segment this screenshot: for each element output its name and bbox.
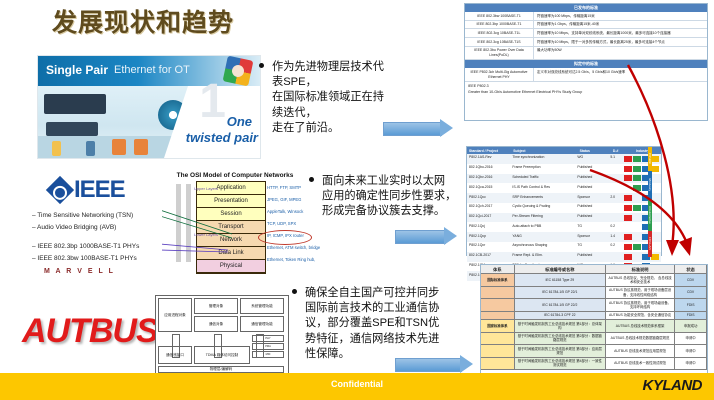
diagram-cell: 通信栈接口	[158, 346, 192, 364]
table-row: IEEE P802.3ch Multi-Gig Automotive Ether…	[465, 68, 707, 81]
diagram-side-label: PHY	[252, 335, 284, 342]
cell-standard: IEEE 802.3cg 10BASE-T1S	[465, 38, 534, 46]
diagram-side-label: MDI	[252, 351, 284, 358]
bullet-line: 形成完备协议簇去支撑。	[322, 204, 484, 219]
list-item: – Time Sensitive Networking (TSN)	[32, 210, 139, 222]
spe-illustration: 1 One twisted pair	[38, 86, 260, 158]
bullet-line: 作为先进物理层技术代表SPE，	[272, 60, 392, 90]
column-header: D-#	[607, 147, 624, 154]
industry-swatch	[633, 166, 641, 172]
table-section-title: 已发布的标准	[465, 4, 707, 12]
bullet-line: 面向未来工业实时以太网	[322, 174, 484, 189]
cell-code: 基于时间触发机制的工业总线技术规范 第1部分：总体架构	[515, 320, 606, 332]
cell-subject: Scheduled Traffic	[510, 174, 575, 184]
table-row: 基于时间触发机制的工业总线技术规范 第4部分：一致性测试规范AUTBUS 总线技…	[481, 358, 707, 371]
bullet-dot-icon	[259, 63, 264, 68]
industry-swatch	[624, 234, 632, 240]
column-header: 状态	[675, 265, 707, 273]
cell-subject: Frame Preemption	[510, 164, 575, 174]
cell-draft	[604, 252, 621, 262]
cell-description: 符链速率为1 Gbps，传输距离15米-40米	[534, 21, 707, 29]
cell-status: FDIS	[675, 312, 707, 319]
cell-code: IEC 61784-3 CPF 22	[515, 312, 606, 319]
industry-swatch	[633, 215, 641, 221]
table-body: P802.1AS-RevTime synchronizationWG5.1802…	[467, 154, 661, 281]
spe-banner-image: Single Pair Ethernet for OT 1 One twiste…	[37, 55, 261, 159]
cell-draft	[604, 203, 621, 213]
table-footnote-2: Greater than 10-Gb/s Automotive Ethernet…	[465, 88, 707, 97]
table-row: 802.1CB-2017Frame Repl. & Elim.Published	[467, 252, 661, 262]
cell-description: AUTBUS 总线技术规范数据链路层规范	[606, 333, 675, 345]
bullet-line: 势特征，通信网络技术先进	[305, 332, 465, 347]
table-row: 基于时间触发机制的工业总线技术规范 第2部分：数据链路层规范AUTBUS 总线技…	[481, 333, 707, 346]
cell-description: AUTBUS 总线技术规范体系框架	[606, 320, 675, 332]
cell-status: TG	[575, 242, 604, 252]
tab-public: P/Public	[648, 147, 652, 171]
cell-description: AUTBUS 总线技术一致性测试规范	[606, 358, 675, 370]
cell-status: Published	[575, 203, 604, 213]
table-row: P802.1AS-RevTime synchronizationWG5.1	[467, 154, 661, 164]
industry-swatch	[624, 215, 632, 221]
cell-status: CDV	[675, 287, 707, 299]
cell-draft	[604, 174, 621, 184]
cell-group	[481, 358, 515, 370]
industry-swatch	[624, 195, 632, 201]
diagram-cell: 物理层/编解码	[158, 366, 284, 373]
table-row: IEEE 802.3bu Power Over Data Lines(PoDL)…	[465, 47, 707, 60]
page-title: 发展现状和趋势	[52, 3, 234, 39]
cell-status: Sponsor	[575, 232, 604, 242]
diagram-side-label: PMA	[252, 343, 284, 350]
industry-swatch	[633, 254, 641, 260]
industry-swatch	[633, 205, 641, 211]
industry-swatch	[624, 224, 632, 230]
cell-subject: Frame Repl. & Elim.	[510, 252, 575, 262]
industry-swatch	[624, 254, 632, 260]
cell-description: 符链速率为10 Mbps，限于一对多的传输方式，最长距离25米，最多可连接4个节…	[534, 38, 707, 46]
table-header-row: 体系 标准编号或名称 标准说明 状态	[481, 265, 707, 274]
cell-subject: SRP Enhancements	[510, 193, 575, 203]
control-desk-shape	[44, 94, 106, 114]
table-row: IEC 61784-3 CPF 22AUTBUS 功能安全规范，含安全通信协议F…	[481, 312, 707, 320]
cell-status: 申报成功	[675, 320, 707, 332]
cell-description: AUTBUS 协议族规范，用于现场设备层设备，支持线性网络结构	[606, 287, 675, 299]
cell-group: 国际标准体系	[481, 274, 515, 286]
cell-draft	[604, 164, 621, 174]
cell-group	[481, 345, 515, 357]
cell-status: Published	[575, 183, 604, 193]
bullet-tsn: 面向未来工业实时以太网 应用的确定性同步性要求， 形成完备协议簇去支撑。	[322, 174, 484, 220]
industry-swatch	[633, 175, 641, 181]
industry-swatch	[633, 224, 641, 230]
spe-caption-one: One	[227, 114, 252, 129]
diagram-cell: 应用进程对象	[158, 298, 192, 332]
bullet-dot-icon	[309, 177, 314, 182]
industry-swatch	[624, 156, 632, 162]
cell-draft: 0.2	[604, 242, 621, 252]
table-row: P802.1QcpYANGSponsor1.4	[467, 232, 661, 242]
table-body: 国际标准体系IEC 61158 Type 29AUTBUS 总线协议、完全规范，…	[481, 274, 707, 370]
cell-draft: 0.2	[604, 222, 621, 232]
blue-arrow-3	[395, 355, 473, 373]
cell-code: 基于时间触发机制的工业总线技术规范 第2部分：数据链路层规范	[515, 333, 606, 345]
column-header: 标准说明	[606, 265, 675, 273]
cell-standard: IEEE 802.3bw 100BASE-T1	[465, 12, 534, 20]
cell-group	[481, 287, 515, 299]
table-tsn-projects: Standard / Project Subject Status D-# In…	[466, 146, 662, 256]
cell-standard: P802.1Qcr	[467, 242, 510, 252]
cell-subject: IS-IS Path Control & Res	[510, 183, 575, 193]
table-row: IEEE 802.3cg 10BASE-T1S 符链速率为10 Mbps，限于一…	[465, 38, 707, 47]
spe-banner-header: Single Pair Ethernet for OT	[38, 56, 260, 86]
table-header-row: Standard / Project Subject Status D-# In…	[467, 147, 661, 154]
cell-subject: YANG	[510, 232, 575, 242]
list-item: – IEEE 802.3bp 1000BASE-T1 PHYs	[32, 241, 139, 253]
diagram-cell: TDMA 媒体访问控制	[194, 346, 250, 364]
blue-arrow-1	[383, 119, 453, 137]
cell-standard: 802.1CB-2017	[467, 252, 510, 262]
cell-description: 符链速率为100 Mbps，传输距离15米	[534, 12, 707, 20]
left-standards-list: – Time Sensitive Networking (TSN) – Audi…	[32, 210, 139, 265]
cell-group: 国家标准体系	[481, 320, 515, 332]
cell-standard: P802.1AS-Rev	[467, 154, 510, 164]
industry-swatch	[633, 234, 641, 240]
cell-status: 申请中	[675, 345, 707, 357]
worker-2-shape	[86, 141, 95, 156]
cell-code: 基于时间触发机制的工业总线技术规范 第3部分：应用层规范	[515, 345, 606, 357]
table-row: IEC 61784-1/5 GP 22/2AUTBUS 协议族规范，用于现场级设…	[481, 299, 707, 312]
cell-status: 申请中	[675, 358, 707, 370]
bullet-line: 在国际标准领域正在持续迭代，	[272, 90, 392, 120]
table-row: IEEE 802.3bw 100BASE-T1 符链速率为100 Mbps，传输…	[465, 12, 707, 21]
column-header: Status	[578, 147, 608, 154]
table-row: 802.1Qch-2017Cyclic Queuing & FwdingPubl…	[467, 203, 661, 213]
tab-automotive: A/Automotive	[648, 199, 652, 231]
industry-swatch	[633, 156, 641, 162]
cell-group	[481, 333, 515, 345]
diagram-cell: 系统管理功能	[240, 298, 284, 314]
table-row: 802.1Qbu-2016Frame PreemptionPublished	[467, 164, 661, 174]
cell-status: WG	[575, 154, 604, 164]
table-row: 802.1Qbv-2016Scheduled TrafficPublished	[467, 174, 661, 184]
table-row: P802.1QcjAuto-attach to PBBTG0.2	[467, 222, 661, 232]
bullet-line: 确保全自主国产可控并同步	[305, 286, 465, 301]
robot-arm-2-shape	[134, 139, 148, 155]
cell-standard: IEEE P802.3ch Multi-Gig Automotive Ether…	[465, 68, 534, 80]
cell-draft: 2.0	[604, 193, 621, 203]
cell-draft	[604, 183, 621, 193]
industry-swatch	[633, 244, 641, 250]
cell-status: Sponsor	[575, 193, 604, 203]
industry-swatch	[633, 185, 641, 191]
cell-status: Published	[575, 174, 604, 184]
cell-standard: P802.1Qcp	[467, 232, 510, 242]
marvell-logo-label: M A R V E L L	[44, 268, 115, 275]
cell-code: IEC 61784-1/5 GP 22/1	[515, 287, 606, 299]
cell-description: AUTBUS 总线技术规范应用层规范	[606, 345, 675, 357]
industry-swatch	[624, 185, 632, 191]
list-item: – IEEE 802.3bw 100BASE-T1 PHYs	[32, 253, 139, 265]
table-row: 802.1Qca-2015IS-IS Path Control & ResPub…	[467, 183, 661, 193]
cell-standard: 802.1Qbv-2016	[467, 174, 510, 184]
bullet-line: 国际前言技术的工业通信协	[305, 301, 465, 316]
bullet-line: 应用的确定性同步性要求，	[322, 189, 484, 204]
table-row: IEEE 802.3cg 10BASE-T1L 符链速率为10 Mbps，支持单…	[465, 29, 707, 38]
footer-bar: Confidential KYLAND	[0, 373, 714, 400]
cell-description: AUTBUS 功能安全规范，含安全通信协议	[606, 312, 675, 319]
table-published-standards: 已发布的标准 IEEE 802.3bw 100BASE-T1 符链速率为100 …	[464, 3, 708, 121]
industry-swatch	[633, 195, 641, 201]
cell-description: 定义车对双绞线系统可达2.5 Gb/s、5 Gb/s和10 Gb/s速率	[534, 68, 707, 80]
table-row: IEC 61784-1/5 GP 22/1AUTBUS 协议族规范，用于现场设备…	[481, 287, 707, 300]
cell-draft	[604, 213, 621, 223]
control-desk-2-shape	[46, 122, 98, 136]
table-row: P802.1QccSRP EnhancementsSponsor2.0	[467, 193, 661, 203]
cell-standard: P802.1Qcc	[467, 193, 510, 203]
cell-standard: 802.1Qch-2017	[467, 203, 510, 213]
cell-status: TG	[575, 222, 604, 232]
slide-canvas: 发展现状和趋势 Single Pair Ethernet for OT 1 On…	[0, 0, 714, 400]
cell-group	[481, 312, 515, 319]
cell-status: FDIS	[675, 299, 707, 311]
cell-subject: Cyclic Queuing & Fwding	[510, 203, 575, 213]
table-section-title: 拟定中的标准	[465, 60, 707, 68]
cell-status: Published	[575, 213, 604, 223]
ieee-diamond-icon	[46, 176, 74, 204]
column-header: Standard / Project	[467, 147, 511, 154]
cell-status: 申请中	[675, 333, 707, 345]
worker-1-shape	[52, 141, 61, 156]
table-row: 基于时间触发机制的工业总线技术规范 第3部分：应用层规范AUTBUS 总线技术规…	[481, 345, 707, 358]
cell-description: 符链速率为10 Mbps，支持单对双绞线系统，最长距离1000米，最多可连接10…	[534, 29, 707, 37]
confidential-label: Confidential	[0, 379, 714, 389]
cell-subject: Asynchronous Shaping	[510, 242, 575, 252]
ieee-logo-label: IEEE	[74, 176, 125, 204]
osi-connector-lines	[162, 172, 308, 276]
kyland-logo: KYLAND	[643, 377, 703, 394]
table-row: 国际标准体系IEC 61158 Type 29AUTBUS 总线协议、完全规范，…	[481, 274, 707, 287]
bullet-autbus: 确保全自主国产可控并同步 国际前言技术的工业通信协 议，部分覆盖SPE和TSN优…	[305, 286, 465, 362]
industry-vertical-tabs: P/Public II/Industry A/Automotive F/Pro-…	[648, 147, 661, 257]
list-item: – Audio Video Bridging (AVB)	[32, 222, 139, 234]
cell-draft: 5.1	[604, 154, 621, 164]
diagram-cell: 管理对象	[194, 298, 238, 314]
cell-standard: 802.1Qbu-2016	[467, 164, 510, 174]
bullet-dot-icon	[292, 289, 297, 294]
cell-standard: IEEE 802.3bu Power Over Data Lines(PoDL)	[465, 47, 534, 59]
table-row: P802.1QcrAsynchronous ShapingTG0.2	[467, 242, 661, 252]
cell-description: 最大功率为50W	[534, 47, 707, 59]
table-row: 国家标准体系基于时间触发机制的工业总线技术规范 第1部分：总体架构AUTBUS …	[481, 320, 707, 333]
cell-status: Published	[575, 252, 604, 262]
robot-arm-1-shape	[112, 139, 126, 155]
column-header: 体系	[481, 265, 515, 273]
ieee-logo: IEEE	[50, 176, 125, 204]
tab-industry: II/Industry	[648, 171, 652, 199]
industry-swatch	[624, 175, 632, 181]
cell-status: Published	[575, 164, 604, 174]
diagram-cell: 通信管理功能	[240, 316, 284, 332]
spe-big-number: 1	[199, 78, 226, 126]
cell-draft: 1.4	[604, 232, 621, 242]
spe-diamond-logo-icon	[223, 56, 254, 87]
osi-model-diagram: The OSI Model of Computer Networks Appli…	[162, 172, 308, 276]
table-row: IEEE 802.3bp 1000BASE-T1 符链速率为1 Gbps，传输距…	[465, 21, 707, 30]
column-header: Subject	[511, 147, 577, 154]
bullet-line: 议，部分覆盖SPE和TSN优	[305, 316, 465, 331]
cell-standard: IEEE 802.3cg 10BASE-T1L	[465, 29, 534, 37]
industry-swatch	[624, 205, 632, 211]
bullet-line: 走在了前沿。	[272, 121, 392, 136]
diagram-cell: 通信对象	[194, 316, 238, 332]
cell-subject: Time synchronization	[510, 154, 575, 164]
bullet-spe: 作为先进物理层技术代表SPE， 在国际标准领域正在持续迭代， 走在了前沿。	[272, 60, 392, 136]
cell-standard: IEEE 802.3bp 1000BASE-T1	[465, 21, 534, 29]
industry-swatch	[624, 166, 632, 172]
cell-description: AUTBUS 协议族规范，用于现场级设备，支持环网结构	[606, 299, 675, 311]
cell-standard: P802.1Qcj	[467, 222, 510, 232]
spe-caption-twisted-pair: twisted pair	[186, 130, 258, 145]
cell-subject: Auto-attach to PBB	[510, 222, 575, 232]
autbus-wordmark: AUTBUS	[22, 312, 158, 351]
cell-description: AUTBUS 总线协议、完全规范， 含总线技术和安全技术	[606, 274, 675, 286]
column-header: 标准编号或名称	[515, 265, 606, 273]
cell-status: CDV	[675, 274, 707, 286]
cell-standard: 802.1Qci-2017	[467, 213, 510, 223]
table-row: 802.1Qci-2017Per-Stream FilteringPublish…	[467, 213, 661, 223]
cell-subject: Per-Stream Filtering	[510, 213, 575, 223]
tab-proav: F/Pro-A/V	[648, 231, 652, 257]
blue-arrow-2	[395, 227, 457, 245]
cell-code: IEC 61784-1/5 GP 22/2	[515, 299, 606, 311]
cell-standard: 802.1Qca-2015	[467, 183, 510, 193]
cell-group	[481, 299, 515, 311]
autbus-architecture-diagram: 应用进程对象 管理对象 系统管理功能 通信对象 通信管理功能 通信栈接口 TDM…	[155, 295, 289, 375]
table-autbus-standards: 体系 标准编号或名称 标准说明 状态 国际标准体系IEC 61158 Type …	[480, 264, 708, 376]
cell-code: IEC 61158 Type 29	[515, 274, 606, 286]
cell-code: 基于时间触发机制的工业总线技术规范 第4部分：一致性测试规范	[515, 358, 606, 370]
industry-swatch	[624, 244, 632, 250]
